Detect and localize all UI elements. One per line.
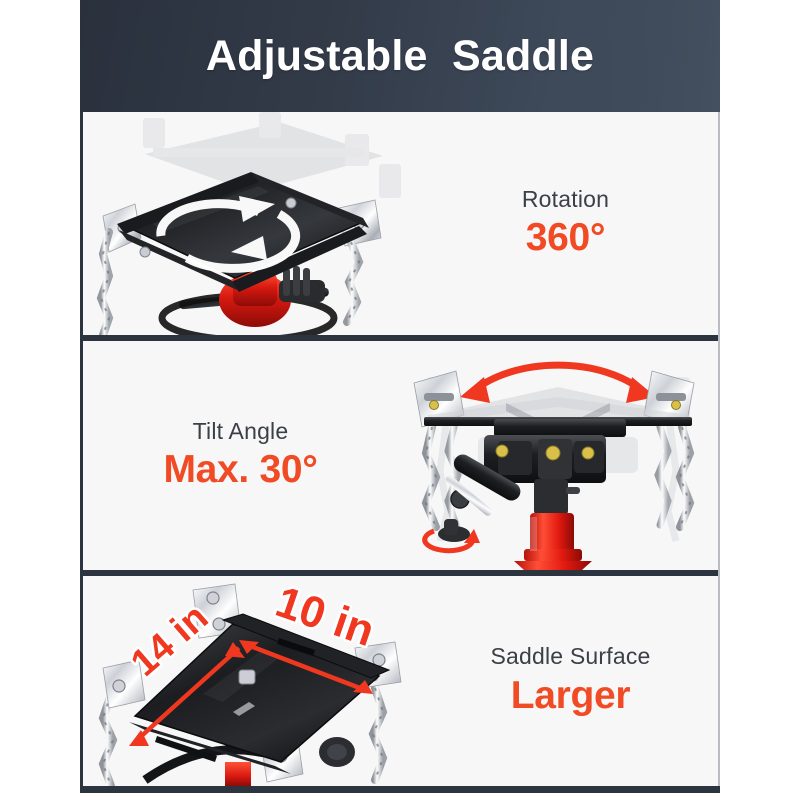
panel-saddle-surface: 14 in 10 in Saddle Surface Larger bbox=[83, 576, 718, 786]
panel-tilt-angle: Tilt Angle Max. 30° bbox=[83, 341, 718, 570]
saddle-surface-label: Saddle Surface bbox=[423, 643, 718, 669]
tilt-artwork bbox=[398, 341, 718, 570]
rotation-illustration bbox=[83, 112, 413, 335]
side-knob bbox=[319, 737, 355, 767]
red-hydraulic-column bbox=[514, 479, 592, 570]
panel-rotation: Rotation 360° bbox=[83, 112, 718, 335]
page-title: Adjustable Saddle bbox=[206, 32, 594, 81]
tilt-value: Max. 30° bbox=[83, 448, 398, 493]
header-banner: Adjustable Saddle bbox=[80, 0, 720, 112]
rotation-value: 360° bbox=[413, 216, 718, 261]
rotation-label: Rotation bbox=[413, 186, 718, 212]
saddle-surface-value: Larger bbox=[423, 674, 718, 719]
right-clamp-chain bbox=[644, 371, 694, 527]
panels-container: Rotation 360° Tilt Angle Max. 30° bbox=[80, 112, 720, 792]
saddle-plate bbox=[117, 172, 369, 292]
tilt-label: Tilt Angle bbox=[83, 418, 398, 444]
tilt-mechanism-block bbox=[444, 435, 606, 517]
infographic-root: Adjustable Saddle bbox=[0, 0, 800, 800]
saddle-surface-caption: Saddle Surface Larger bbox=[423, 643, 718, 718]
right-chain-3 bbox=[373, 688, 383, 780]
saddle-surface-artwork: 14 in 10 in bbox=[83, 576, 423, 786]
rotation-caption: Rotation 360° bbox=[413, 186, 718, 261]
tilt-caption: Tilt Angle Max. 30° bbox=[83, 418, 398, 493]
bottom-border-bar bbox=[80, 786, 720, 793]
rotation-artwork bbox=[83, 112, 413, 335]
saddle-surface-illustration: 14 in 10 in bbox=[83, 576, 423, 786]
tilt-illustration bbox=[398, 341, 718, 570]
